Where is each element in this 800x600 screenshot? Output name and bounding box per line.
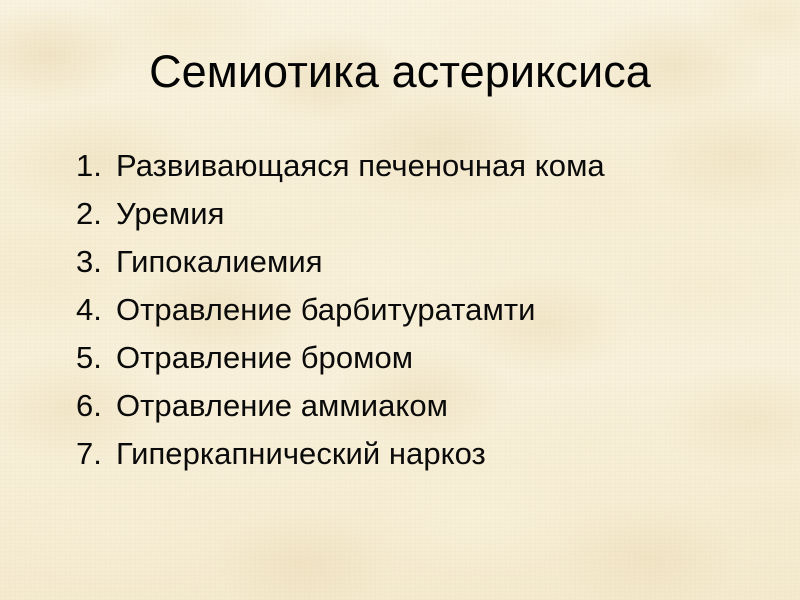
- slide-content: Семиотика астериксиса 1. Развивающаяся п…: [0, 0, 800, 600]
- list-item-text: Уремия: [116, 196, 225, 232]
- list-item: 7. Гиперкапнический наркоз: [76, 436, 776, 484]
- list-item-marker: 4.: [76, 292, 116, 328]
- list-item: 4. Отравление барбитуратамти: [76, 292, 776, 340]
- list-item-text: Отравление бромом: [116, 340, 413, 376]
- slide-title: Семиотика астериксиса: [0, 48, 800, 95]
- list-item-marker: 2.: [76, 196, 116, 232]
- list-item-text: Развивающаяся печеночная кома: [116, 148, 605, 184]
- list-item-marker: 3.: [76, 244, 116, 280]
- list-item: 1. Развивающаяся печеночная кома: [76, 148, 776, 196]
- list-item-marker: 1.: [76, 148, 116, 184]
- numbered-list: 1. Развивающаяся печеночная кома 2. Урем…: [76, 148, 776, 484]
- presentation-slide: Семиотика астериксиса 1. Развивающаяся п…: [0, 0, 800, 600]
- list-item-text: Отравление аммиаком: [116, 388, 448, 424]
- list-item-text: Гиперкапнический наркоз: [116, 436, 486, 472]
- list-item-marker: 6.: [76, 388, 116, 424]
- list-item-marker: 7.: [76, 436, 116, 472]
- list-item: 5. Отравление бромом: [76, 340, 776, 388]
- list-item-text: Гипокалиемия: [116, 244, 323, 280]
- list-item-text: Отравление барбитуратамти: [116, 292, 535, 328]
- list-item: 3. Гипокалиемия: [76, 244, 776, 292]
- list-item-marker: 5.: [76, 340, 116, 376]
- list-item: 6. Отравление аммиаком: [76, 388, 776, 436]
- list-item: 2. Уремия: [76, 196, 776, 244]
